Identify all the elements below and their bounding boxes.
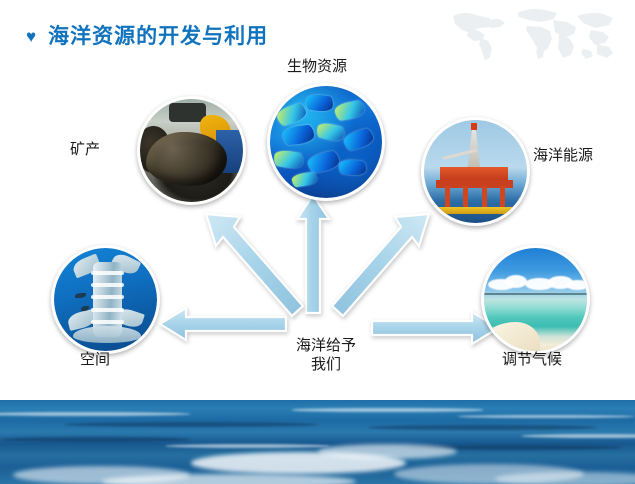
slide-title-row: ♥ 海洋资源的开发与利用 [26, 20, 268, 50]
node-climate-regulation[interactable] [481, 245, 590, 354]
center-label-line1: 海洋给予 [283, 337, 369, 356]
beach-image [484, 248, 587, 351]
underwater-structure-image [54, 248, 157, 351]
arrow-upright-to-energy [330, 210, 435, 320]
slide-canvas: ♥ 海洋资源的开发与利用 [0, 0, 635, 484]
arrow-upleft-to-minerals [200, 210, 305, 320]
node-label-biological: 生物资源 [287, 58, 347, 77]
node-minerals[interactable] [137, 96, 246, 205]
arrow-left-to-space [160, 307, 286, 343]
diagram-center-label: 海洋给予 我们 [283, 337, 369, 375]
node-space[interactable] [51, 245, 160, 354]
arrow-right-to-climate [372, 311, 498, 347]
ocean-waves-banner [0, 400, 635, 484]
page-title: 海洋资源的开发与利用 [48, 20, 268, 50]
radial-diagram: 生物资源 矿产 海洋能源 空间 调节气候 海洋给予 我们 [0, 55, 635, 400]
mineral-ore-image [140, 99, 243, 202]
center-label-line2: 我们 [283, 356, 369, 375]
node-marine-energy[interactable] [421, 117, 530, 226]
oil-platform-image [424, 120, 527, 223]
node-biological-resources[interactable] [267, 83, 385, 201]
node-label-space: 空间 [80, 351, 110, 370]
fish-school-image [270, 86, 382, 198]
heart-icon: ♥ [26, 28, 36, 45]
node-label-climate: 调节气候 [502, 351, 562, 370]
node-label-minerals: 矿产 [70, 141, 100, 160]
node-label-energy: 海洋能源 [533, 147, 593, 166]
